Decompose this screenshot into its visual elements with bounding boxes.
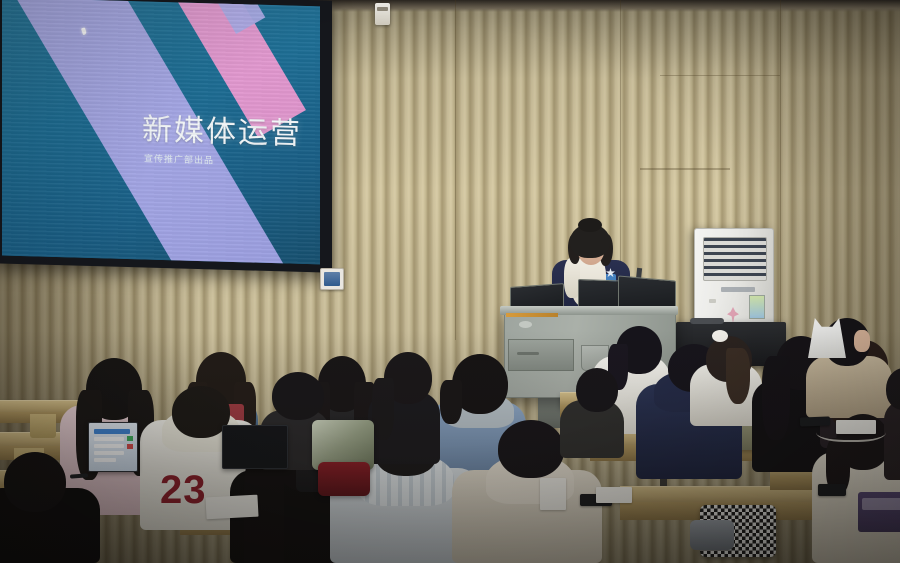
wall-seam — [780, 0, 781, 330]
lectern-accent-strip — [506, 313, 558, 317]
projection-screen-frame: 新媒体运营 宣传推广部出品 — [0, 0, 332, 273]
face-profile — [854, 330, 870, 352]
wall-control-panel[interactable] — [320, 268, 344, 290]
ac-brand-logo — [721, 287, 755, 292]
earphone-cable — [816, 418, 886, 442]
wall-seam — [640, 168, 730, 170]
equipment-cable — [690, 318, 724, 324]
wall-seam — [660, 75, 780, 76]
shoe — [690, 520, 734, 550]
ac-energy-label — [749, 295, 765, 319]
projection-screen: 新媒体运营 宣传推广部出品 — [2, 0, 320, 264]
slide-subtitle: 宣传推广部出品 — [144, 151, 214, 166]
slide-title: 新媒体运营 — [142, 104, 302, 152]
ac-indicator — [709, 299, 716, 303]
notebook-center — [596, 487, 632, 503]
ceiling-sensor-icon — [375, 3, 390, 25]
air-vent-slats-icon — [703, 237, 767, 281]
lectern-emblem — [519, 321, 532, 328]
jersey-number: 23 — [160, 468, 207, 513]
hair-bow — [712, 330, 728, 342]
lectern-drawer[interactable] — [508, 339, 574, 371]
ac-decal-icon — [727, 307, 739, 323]
red-bag — [318, 462, 370, 496]
lecture-hall-photo: 新媒体运营 宣传推广部出品 — [0, 0, 900, 563]
wall-seam — [455, 0, 456, 340]
notebook-left — [205, 495, 258, 520]
laptop-open-center[interactable] — [222, 425, 288, 469]
presenter-hair-bun — [578, 218, 602, 232]
phone-on-desk-2[interactable] — [818, 484, 846, 496]
laptop-open-left[interactable] — [88, 422, 138, 472]
paper-sheet — [540, 478, 566, 510]
